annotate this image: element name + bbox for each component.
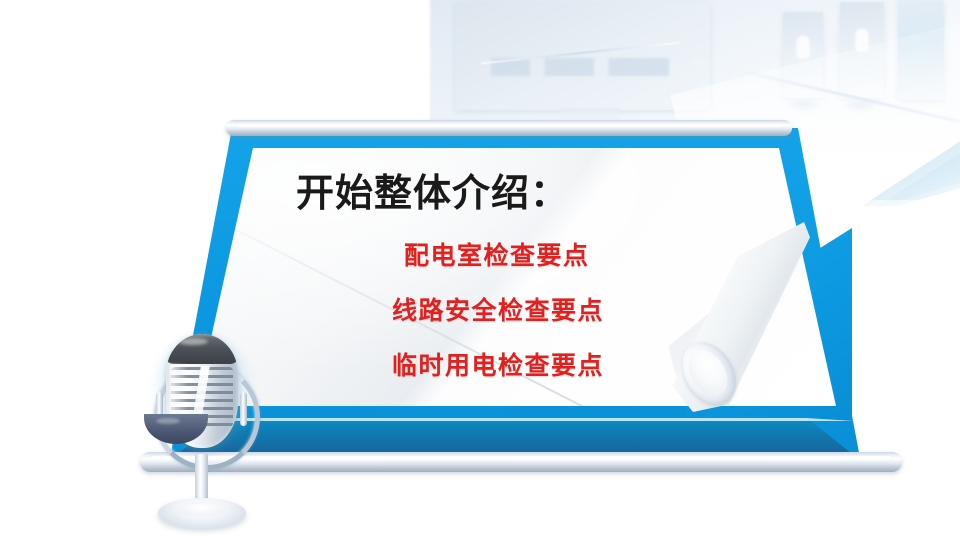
slide-canvas: 开始整体介绍： 配电室检查要点 线路安全检查要点 临时用电检查要点 — [0, 0, 960, 540]
microphone-top-cap — [166, 334, 238, 364]
screen-top-bar — [226, 120, 792, 136]
slide-content: 开始整体介绍： 配电室检查要点 线路安全检查要点 临时用电检查要点 — [196, 148, 836, 406]
microphone-yoke-arm-right — [240, 392, 247, 426]
microphone-stand-base-top — [176, 502, 228, 516]
screen-top-bar-highlight — [238, 124, 780, 127]
page-title: 开始整体介绍： — [296, 162, 569, 217]
microphone-cap-highlight — [178, 338, 208, 345]
bullet-item-2: 线路安全检查要点 — [392, 291, 604, 327]
screen-frame-base-highlight — [176, 418, 854, 421]
bullet-item-3: 临时用电检查要点 — [392, 346, 604, 382]
microphone-base-cap-highlight — [156, 418, 180, 424]
bullet-item-1: 配电室检查要点 — [404, 236, 590, 272]
microphone-icon — [140, 326, 264, 534]
